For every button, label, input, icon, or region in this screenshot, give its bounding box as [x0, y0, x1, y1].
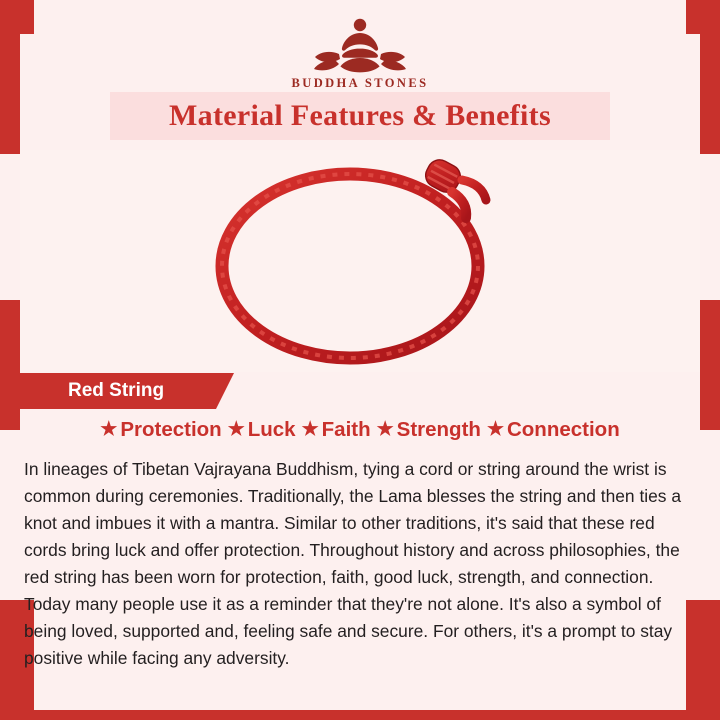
- benefit-label: Connection: [507, 418, 620, 442]
- infographic-page: BUDDHA STONES Material Features & Benefi…: [0, 0, 720, 720]
- decor-bar-left-middle: [0, 300, 20, 430]
- lotus-meditation-icon: [305, 14, 415, 74]
- benefit-label: Luck: [248, 418, 296, 442]
- benefit-label: Strength: [397, 418, 481, 442]
- product-tag: Red String: [20, 373, 234, 409]
- benefit-item: ★ Strength: [377, 418, 481, 442]
- benefit-item: ★ Faith: [302, 418, 371, 442]
- star-icon: ★: [487, 420, 504, 439]
- benefit-label: Protection: [120, 418, 221, 442]
- star-icon: ★: [302, 420, 319, 439]
- star-icon: ★: [100, 420, 117, 439]
- star-icon: ★: [377, 420, 394, 439]
- page-title: Material Features & Benefits: [169, 99, 551, 133]
- product-tag-label: Red String: [68, 380, 164, 402]
- star-icon: ★: [228, 420, 245, 439]
- benefit-item: ★ Connection: [487, 418, 620, 442]
- description-text: In lineages of Tibetan Vajrayana Buddhis…: [24, 456, 700, 672]
- decor-bottom-edge: [0, 710, 720, 720]
- product-image: [20, 150, 700, 372]
- benefit-label: Faith: [322, 418, 371, 442]
- page-title-band: Material Features & Benefits: [110, 92, 610, 140]
- benefit-item: ★ Luck: [228, 418, 296, 442]
- red-string-bracelet-illustration: [200, 154, 520, 369]
- brand-logo: BUDDHA STONES: [0, 14, 720, 91]
- benefits-list: ★ Protection ★ Luck ★ Faith ★ Strength ★…: [20, 418, 700, 442]
- decor-bar-right-middle: [700, 300, 720, 430]
- benefit-item: ★ Protection: [100, 418, 221, 442]
- brand-name: BUDDHA STONES: [0, 76, 720, 91]
